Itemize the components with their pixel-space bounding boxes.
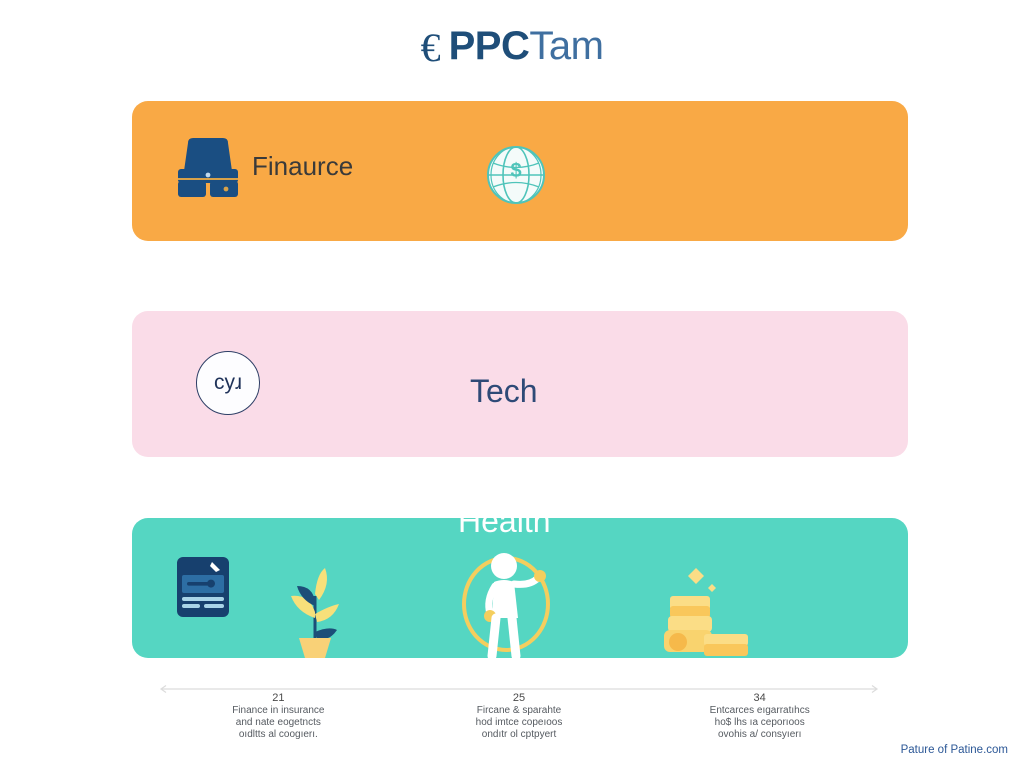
band-tech-label: Tech: [470, 373, 538, 410]
jump-rope-person-icon: [450, 544, 562, 662]
footer-number: 21: [158, 692, 399, 705]
id-card-icon: [176, 556, 230, 618]
brand-name-bold: PPC: [449, 24, 530, 68]
footer-line: ho$ lhs ıa ceporıoos: [639, 717, 880, 729]
cy-circle-badge[interactable]: cyɹ: [196, 351, 260, 415]
watermark-link[interactable]: Pature of Patine.com: [901, 744, 1008, 756]
cy-circle-badge-label: cyɹ: [214, 371, 242, 395]
svg-text:$: $: [510, 160, 521, 182]
footer-line: and nate eogetncts: [158, 717, 399, 729]
footer-line: hod imtce copeıoos: [399, 717, 640, 729]
footer-number: 34: [639, 692, 880, 705]
band-finance[interactable]: Finaurce $: [132, 101, 908, 241]
safe-briefcase-icon: [174, 137, 242, 199]
band-health-label: Health: [458, 503, 551, 540]
band-tech[interactable]: cyɹ Tech: [132, 311, 908, 457]
footer-columns: 21 Finance in insurance and nate eogetnc…: [158, 692, 880, 741]
footer-number: 25: [399, 692, 640, 705]
coin-stack-icon: [654, 554, 752, 658]
footer-line: ovohis a/ consyıerı: [639, 729, 880, 741]
page-title: €PPCTam: [0, 24, 1024, 71]
footer-column: 25 Fircane & sparahte hod imtce copeıoos…: [399, 692, 640, 741]
band-health[interactable]: Health: [132, 518, 908, 658]
footer-line: oıdltts al coogıerı.: [158, 729, 399, 741]
footer-column: 34 Entcarces eıgarratıhcs ho$ lhs ıa cep…: [639, 692, 880, 741]
footer-line: Entcarces eıgarratıhcs: [639, 705, 880, 717]
footer-line: Finance in insurance: [158, 705, 399, 717]
footer-line: Fircane & sparahte: [399, 705, 640, 717]
footer-column: 21 Finance in insurance and nate eogetnc…: [158, 692, 399, 741]
globe-dollar-icon: $: [485, 144, 547, 206]
footer-axis-line: [158, 681, 880, 691]
euro-icon: €: [421, 25, 441, 70]
band-finance-label: Finaurce: [252, 151, 353, 182]
potted-plant-icon: [277, 560, 353, 658]
footer-line: ondıtr ol cptpyert: [399, 729, 640, 741]
brand-name-light: Tam: [529, 24, 603, 68]
